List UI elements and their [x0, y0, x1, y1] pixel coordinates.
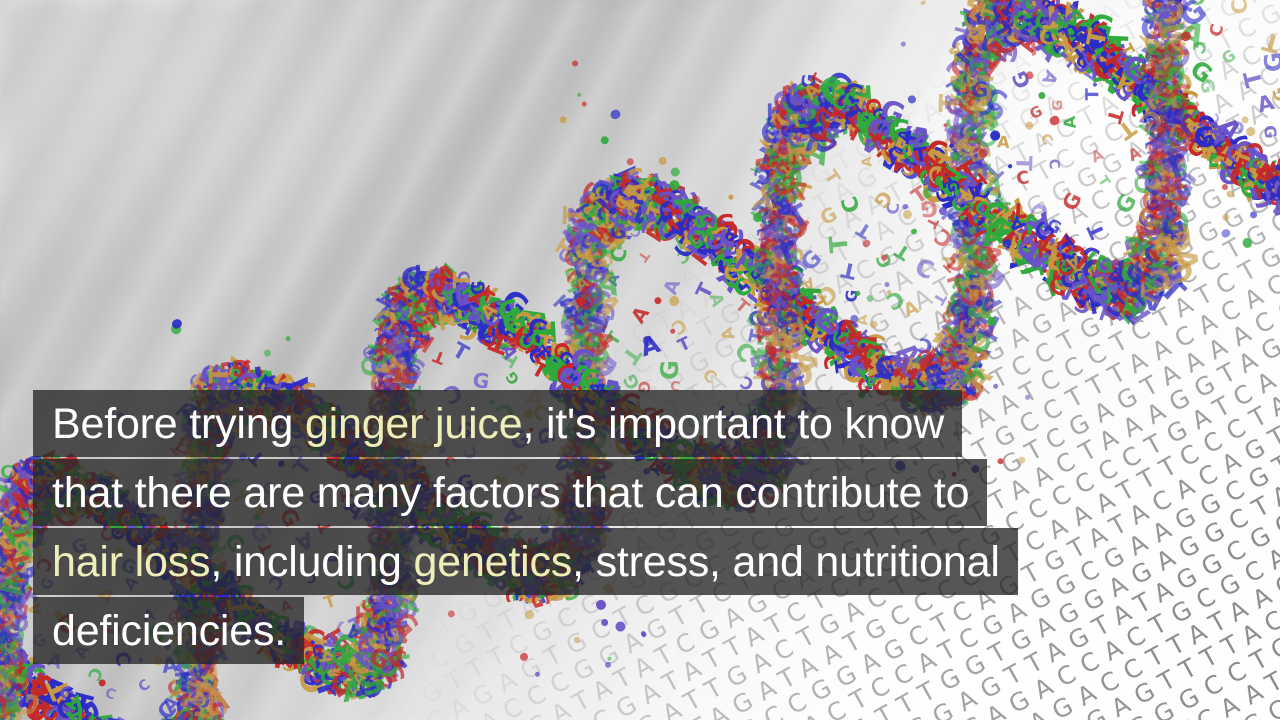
- video-frame: AGTTCTTGACAACATGACCAACGATTTCCTACGTGACACG…: [0, 0, 1280, 720]
